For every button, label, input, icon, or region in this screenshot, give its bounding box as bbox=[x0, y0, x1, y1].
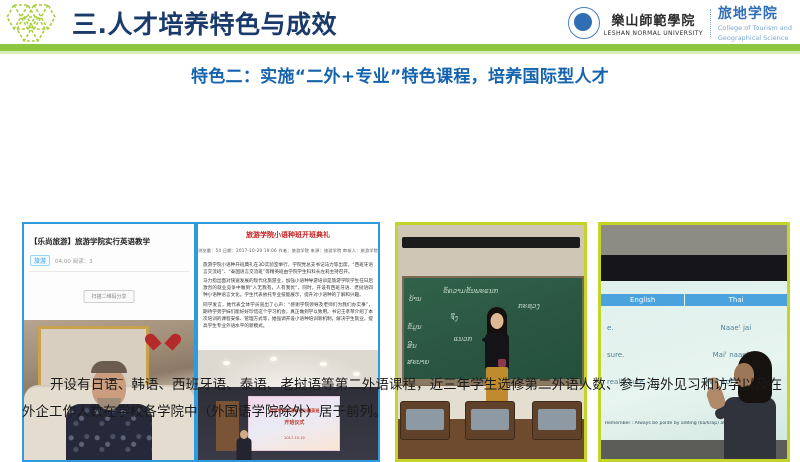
page-title: 三.人才培养特色与成效 bbox=[72, 5, 337, 41]
photo-gallery: 【乐尚旅游】旅游学院实行英语教学 旅游 04:00 阅读：3 扫描二维码分享 旅… bbox=[0, 110, 800, 360]
hexagon-lattice-logo bbox=[4, 1, 70, 45]
heart-decor bbox=[152, 331, 174, 351]
news-paragraph: 旅游学院小语种开班典礼在3D实验室举行，学院党总支书记马力等出席。“西班牙语言交… bbox=[203, 262, 373, 276]
gallery-item-projector-photo[interactable]: English Thai e. Naaeᶠ jai sure. Maiᶠ naa… bbox=[598, 222, 790, 462]
gallery-item-webpage-screenshot[interactable]: 【乐尚旅游】旅游学院实行英语教学 旅游 04:00 阅读：3 扫描二维码分享 bbox=[22, 222, 196, 462]
teacher-face bbox=[490, 313, 503, 329]
brand-divider bbox=[710, 9, 711, 37]
dark-band bbox=[601, 255, 787, 281]
slide-header: 三.人才培养特色与成效 樂山師範學院 LESHAN NORMAL UNIVERS… bbox=[0, 0, 800, 44]
speaker-figure bbox=[236, 430, 252, 460]
news-headline: 旅游学院小语种班开班典礼 bbox=[198, 230, 378, 240]
webpage-header-area: 【乐尚旅游】旅游学院实行英语教学 旅游 04:00 阅读：3 扫描二维码分享 bbox=[24, 224, 194, 320]
news-paragraph: 同学发言，她代表全体学员道出了心声：“感谢学院领导及老师们为我们办实事”，期待学… bbox=[203, 302, 373, 330]
news-meta: 浏览量：54 日期：2017-10-20 19:06 作者：旅游学院 来源：旅游… bbox=[198, 248, 378, 254]
speaker-head bbox=[240, 430, 248, 439]
chalk-text: ຈຶ່ງ bbox=[450, 314, 458, 322]
cell-english: sure. bbox=[601, 351, 685, 359]
gallery-item-news-article[interactable]: 旅游学院小语种班开班典礼 浏览量：54 日期：2017-10-20 19:06 … bbox=[196, 222, 380, 462]
speaker-body bbox=[236, 438, 251, 460]
chalk-text: ສະບາຍ bbox=[407, 358, 429, 366]
brand-block: 樂山師範學院 LESHAN NORMAL UNIVERSITY 旅地学院 Col… bbox=[568, 4, 792, 42]
table-header-english: English bbox=[601, 294, 684, 306]
section-subtitle: 特色二：实施“二外+专业”特色课程，培养国际型人才 bbox=[0, 62, 800, 87]
chalk-text: ສິນ bbox=[407, 342, 416, 350]
news-body: 旅游学院小语种开班典礼在3D实验室举行，学院党总支书记马力等出席。“西班牙语言交… bbox=[203, 262, 373, 332]
category-tag[interactable]: 旅游 bbox=[30, 255, 50, 266]
ceiling-light bbox=[270, 357, 277, 361]
share-qr-button[interactable]: 扫描二维码分享 bbox=[83, 290, 134, 303]
cell-thai: Naaeᶠ jai bbox=[685, 324, 787, 332]
university-name-cn: 樂山師範學院 bbox=[611, 10, 695, 29]
cell-english: e. bbox=[601, 324, 685, 332]
college-name-cn: 旅地学院 bbox=[718, 3, 792, 23]
ceiling bbox=[601, 225, 787, 255]
slide-table-header: English Thai bbox=[601, 294, 787, 306]
chalk-text: ຂໍ້ມູນ bbox=[407, 323, 421, 331]
table-header-thai: Thai bbox=[684, 294, 787, 306]
chalk-text: ຂໍ້ຄວາມຂັ້ນພະແນກ bbox=[443, 287, 498, 295]
chalk-text: ແນວກ bbox=[454, 335, 472, 343]
gallery-item-classroom-photo[interactable]: ບ້ານ ຂໍ້ຄວາມຂັ້ນພະແນກ ກະຊວງ ຈຶ່ງ ຂໍ້ມູນ … bbox=[395, 222, 587, 462]
college-name-en-line2: Geographical Science bbox=[718, 34, 792, 43]
table-row: e. Naaeᶠ jai bbox=[601, 324, 787, 332]
university-seal-icon bbox=[568, 7, 600, 39]
divider bbox=[29, 271, 189, 272]
webpage-meta-row: 旅游 04:00 阅读：3 bbox=[30, 255, 93, 266]
webpage-article-title: 【乐尚旅游】旅游学院实行英语教学 bbox=[30, 236, 188, 247]
chalk-text: ບ້ານ bbox=[409, 295, 421, 303]
body-paragraph: 开设有日语、韩语、西班牙语、泰语、老挝语等第二外语课程，近三年学生选修第二外语人… bbox=[22, 372, 782, 426]
college-name-en-line1: College of Tourism and bbox=[718, 24, 792, 33]
header-green-bar bbox=[0, 44, 800, 51]
news-paragraph: 马力指出面对快速发展的现代化旅游业，加强小语种导游培训是旅游学院学生在日后激烈的… bbox=[203, 278, 373, 299]
teacher-bag bbox=[498, 359, 506, 367]
slide-date: 2017.10.19 bbox=[249, 436, 339, 440]
chalk-text: ກະຊວງ bbox=[518, 302, 540, 310]
ceiling-beam bbox=[402, 237, 581, 249]
webpage-meta-text: 04:00 阅读：3 bbox=[55, 257, 93, 265]
header-green-bar-light bbox=[0, 51, 800, 54]
university-name-en: LESHAN NORMAL UNIVERSITY bbox=[604, 30, 703, 37]
